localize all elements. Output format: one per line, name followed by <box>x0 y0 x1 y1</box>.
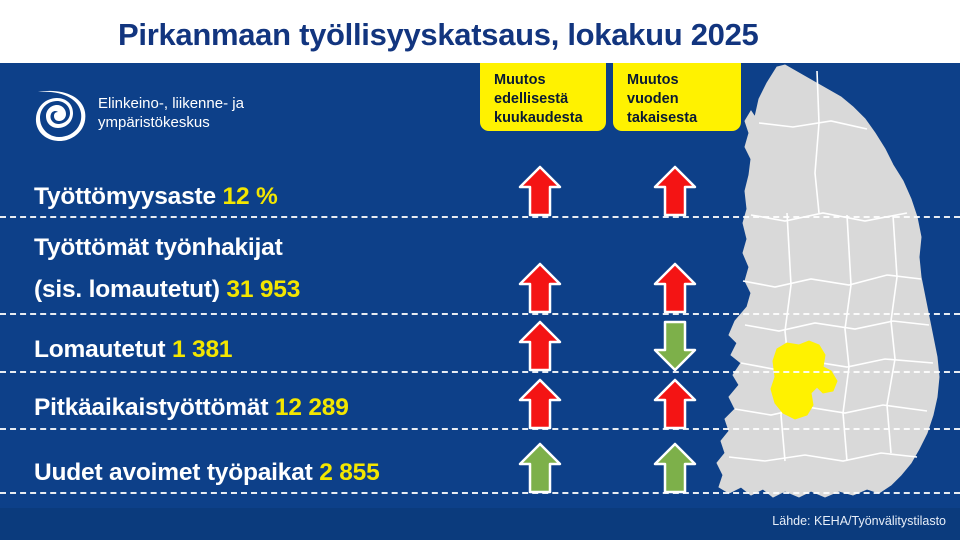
arrow-up-red-row2-year <box>653 262 697 314</box>
row-separator <box>0 371 960 373</box>
arrow-up-red-row1-month <box>518 165 562 217</box>
ely-keskus-logo: Elinkeino-, liikenne- ja ympäristökeskus <box>32 84 282 146</box>
stat-value: 12 289 <box>275 394 349 421</box>
arrow-up-red-row1-year <box>653 165 697 217</box>
column-header-month: Muutos edellisestä kuukaudesta <box>480 63 606 131</box>
stat-label: (sis. lomautetut) <box>34 276 220 303</box>
ely-keskus-logo-text: Elinkeino-, liikenne- ja ympäristökeskus <box>98 94 244 132</box>
stat-label: Työttömät työnhakijat <box>34 234 283 261</box>
page-title: Pirkanmaan työllisyyskatsaus, lokakuu 20… <box>118 17 758 53</box>
stat-row-laid-off: Lomautetut 1 381 <box>34 336 232 364</box>
stat-value: 1 381 <box>172 336 232 363</box>
arrow-down-green-row3-year <box>653 320 697 372</box>
arrow-up-red-row2-month <box>518 262 562 314</box>
ely-leaf-icon <box>32 86 90 144</box>
arrow-up-red-row4-month <box>518 378 562 430</box>
stat-label: Uudet avoimet työpaikat <box>34 459 313 486</box>
finland-map <box>715 63 960 513</box>
stat-value: 12 % <box>223 183 278 210</box>
stat-label: Pitkäaikaistyöttömät <box>34 394 268 421</box>
title-band: Pirkanmaan työllisyyskatsaus, lokakuu 20… <box>0 0 960 63</box>
stat-value: 2 855 <box>319 459 379 486</box>
stat-row-long-term-unemployed: Pitkäaikaistyöttömät 12 289 <box>34 394 349 422</box>
stat-row-new-vacancies: Uudet avoimet työpaikat 2 855 <box>34 459 380 487</box>
arrow-up-red-row3-month <box>518 320 562 372</box>
row-separator <box>0 313 960 315</box>
arrow-up-green-row5-month <box>518 442 562 494</box>
row-separator <box>0 428 960 430</box>
row-separator <box>0 492 960 494</box>
stat-row-unemployment-rate: Työttömyysaste 12 % <box>34 183 278 211</box>
infographic-root: Pirkanmaan työllisyyskatsaus, lokakuu 20… <box>0 0 960 540</box>
row-separator <box>0 216 960 218</box>
stat-row-unemployed-jobseekers-line2: (sis. lomautetut) 31 953 <box>34 276 300 304</box>
source-note: Lähde: KEHA/Työnvälitystilasto <box>772 514 946 528</box>
column-header-year: Muutos vuoden takaisesta <box>613 63 741 131</box>
stat-row-unemployed-jobseekers-line1: Työttömät työnhakijat <box>34 234 283 262</box>
arrow-up-green-row5-year <box>653 442 697 494</box>
stat-label: Työttömyysaste <box>34 183 216 210</box>
arrow-up-red-row4-year <box>653 378 697 430</box>
stat-label: Lomautetut <box>34 336 165 363</box>
stat-value: 31 953 <box>226 276 300 303</box>
